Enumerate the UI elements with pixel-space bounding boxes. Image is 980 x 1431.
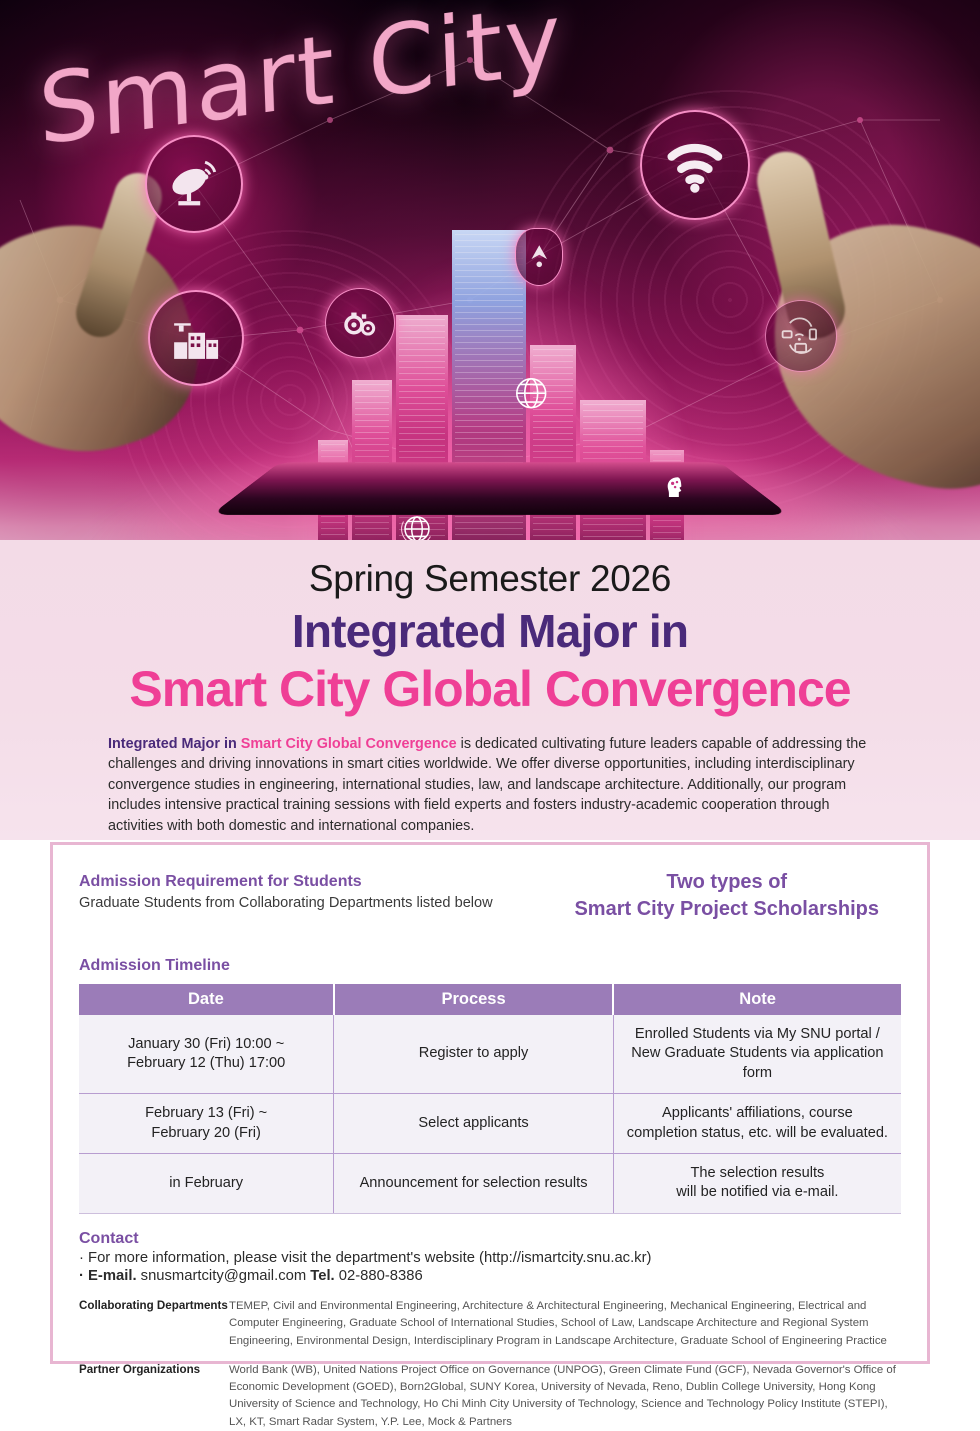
table-row: January 30 (Fri) 10:00 ~February 12 (Thu… bbox=[79, 1015, 901, 1094]
contact-email-line: · E-mail. snusmartcity@gmail.com Tel. 02… bbox=[79, 1268, 901, 1284]
table-row: in FebruaryAnnouncement for selection re… bbox=[79, 1154, 901, 1214]
admission-heading: Admission Requirement for Students bbox=[79, 873, 493, 891]
tel-label: Tel. bbox=[310, 1268, 334, 1284]
factory-building-icon bbox=[148, 290, 244, 386]
tablet-device bbox=[211, 462, 789, 515]
tel-value: 02-880-8386 bbox=[335, 1268, 423, 1284]
scholarship-line1: Two types of bbox=[574, 869, 879, 896]
cell-date: February 13 (Fri) ~February 20 (Fri) bbox=[79, 1094, 334, 1154]
cell-note: Enrolled Students via My SNU portal /New… bbox=[613, 1015, 901, 1094]
partner-organizations-label: Partner Organizations bbox=[79, 1362, 229, 1431]
scholarship-line2: Smart City Project Scholarships bbox=[574, 896, 879, 923]
email-value: snusmartcity@gmail.com bbox=[137, 1268, 311, 1284]
description-lead-pink: Smart City Global Convergence bbox=[241, 736, 457, 752]
admission-timeline-table: Date Process Note January 30 (Fri) 10:00… bbox=[79, 984, 901, 1214]
hero-banner: Smart City bbox=[0, 0, 980, 560]
drone-icon bbox=[515, 228, 563, 286]
scholarship-block: Two types of Smart City Project Scholars… bbox=[574, 869, 879, 923]
cell-date: January 30 (Fri) 10:00 ~February 12 (Thu… bbox=[79, 1015, 334, 1094]
wifi-icon bbox=[640, 110, 750, 220]
brain-icon bbox=[650, 462, 698, 510]
cell-note: The selection resultswill be notified vi… bbox=[613, 1154, 901, 1214]
title-band: Spring Semester 2026 Integrated Major in… bbox=[0, 540, 980, 840]
column-header-process: Process bbox=[334, 984, 613, 1015]
cell-date: in February bbox=[79, 1154, 334, 1214]
collaborating-departments-value: TEMEP, Civil and Environmental Engineeri… bbox=[229, 1298, 901, 1350]
globe-icon bbox=[500, 362, 562, 424]
partner-organizations-value: World Bank (WB), United Nations Project … bbox=[229, 1362, 901, 1431]
email-label: · E-mail. bbox=[79, 1268, 137, 1284]
devices-sync-icon bbox=[765, 300, 837, 372]
info-card: Admission Requirement for Students Gradu… bbox=[50, 842, 930, 1364]
timeline-label: Admission Timeline bbox=[79, 957, 901, 975]
partner-organizations-row: Partner Organizations World Bank (WB), U… bbox=[79, 1362, 901, 1431]
cell-note: Applicants' affiliations, coursecompleti… bbox=[613, 1094, 901, 1154]
admission-block: Admission Requirement for Students Gradu… bbox=[79, 873, 493, 911]
description-lead-bold: Integrated Major in bbox=[108, 736, 241, 752]
cell-process: Select applicants bbox=[334, 1094, 613, 1154]
admission-detail: Graduate Students from Collaborating Dep… bbox=[79, 895, 493, 911]
semester-title: Spring Semester 2026 bbox=[0, 558, 980, 600]
admission-scholarship-row: Admission Requirement for Students Gradu… bbox=[79, 873, 901, 923]
gears-icon bbox=[325, 288, 395, 358]
column-header-date: Date bbox=[79, 984, 334, 1015]
program-title-sub: Smart City Global Convergence bbox=[0, 660, 980, 718]
table-row: February 13 (Fri) ~February 20 (Fri)Sele… bbox=[79, 1094, 901, 1154]
program-description: Integrated Major in Smart City Global Co… bbox=[108, 734, 872, 836]
collaborating-departments-label: Collaborating Departments bbox=[79, 1298, 229, 1350]
contact-heading: Contact bbox=[79, 1230, 901, 1248]
contact-website-line: · For more information, please visit the… bbox=[79, 1250, 901, 1266]
cell-process: Announcement for selection results bbox=[334, 1154, 613, 1214]
column-header-note: Note bbox=[613, 984, 901, 1015]
cell-process: Register to apply bbox=[334, 1015, 613, 1094]
program-title-main: Integrated Major in bbox=[0, 604, 980, 658]
table-header-row: Date Process Note bbox=[79, 984, 901, 1015]
collaborating-departments-row: Collaborating Departments TEMEP, Civil a… bbox=[79, 1298, 901, 1350]
